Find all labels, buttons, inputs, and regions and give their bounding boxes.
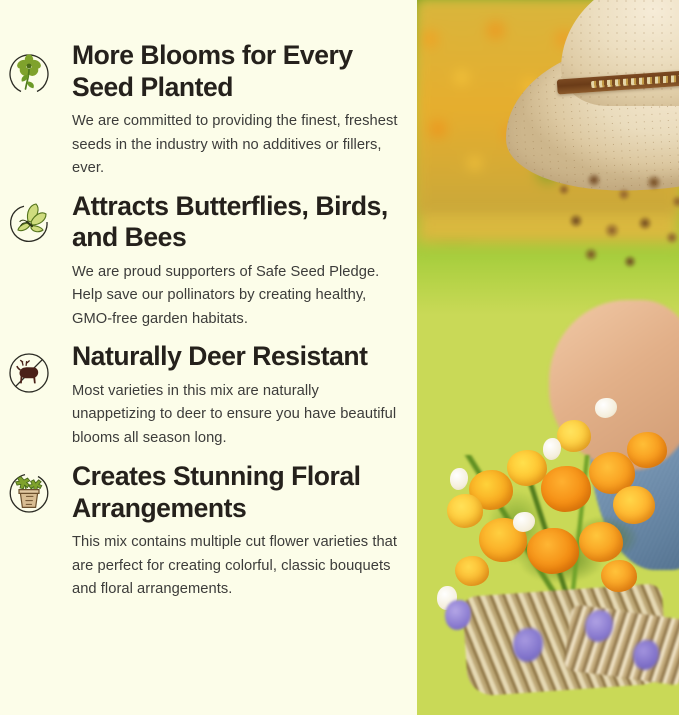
benefit-text-block: More Blooms for Every Seed Planted We ar…: [55, 40, 409, 181]
poppy-flower: [507, 450, 547, 486]
poppy-flower: [627, 432, 667, 468]
poppy-flower: [541, 466, 591, 512]
benefit-body: We are committed to providing the finest…: [72, 110, 401, 181]
curly-hair: [543, 168, 679, 288]
poppy-flower: [613, 486, 655, 524]
poppy-flower: [557, 420, 591, 452]
poppy-flower: [447, 494, 483, 528]
benefit-heading: Naturally Deer Resistant: [72, 341, 401, 373]
straw-sun-hat: [505, 0, 679, 189]
lifestyle-photo: [417, 0, 679, 715]
benefits-list: More Blooms for Every Seed Planted We ar…: [0, 0, 417, 715]
no-deer-icon: [3, 347, 55, 399]
benefit-item-floral-arrangements: Creates Stunning Floral Arrangements Thi…: [0, 461, 409, 602]
product-benefits-panel: More Blooms for Every Seed Planted We ar…: [0, 0, 679, 715]
potted-plant-icon: [3, 467, 55, 519]
benefit-body: We are proud supporters of Safe Seed Ple…: [72, 261, 401, 332]
butterfly-icon: [3, 197, 55, 249]
benefit-item-more-blooms: More Blooms for Every Seed Planted We ar…: [0, 40, 409, 181]
flower-sprout-icon: [3, 46, 55, 98]
benefit-body: This mix contains multiple cut flower va…: [72, 531, 401, 602]
benefit-text-block: Creates Stunning Floral Arrangements Thi…: [55, 461, 409, 602]
benefit-text-block: Attracts Butterflies, Birds, and Bees We…: [55, 191, 409, 332]
benefit-text-block: Naturally Deer Resistant Most varieties …: [55, 341, 409, 450]
benefit-heading: Attracts Butterflies, Birds, and Bees: [72, 191, 401, 254]
benefit-heading: Creates Stunning Floral Arrangements: [72, 461, 401, 524]
benefit-heading: More Blooms for Every Seed Planted: [72, 40, 401, 103]
benefit-item-deer-resistant: Naturally Deer Resistant Most varieties …: [0, 341, 409, 450]
benefit-body: Most varieties in this mix are naturally…: [72, 380, 401, 451]
benefit-item-attracts-pollinators: Attracts Butterflies, Birds, and Bees We…: [0, 191, 409, 332]
